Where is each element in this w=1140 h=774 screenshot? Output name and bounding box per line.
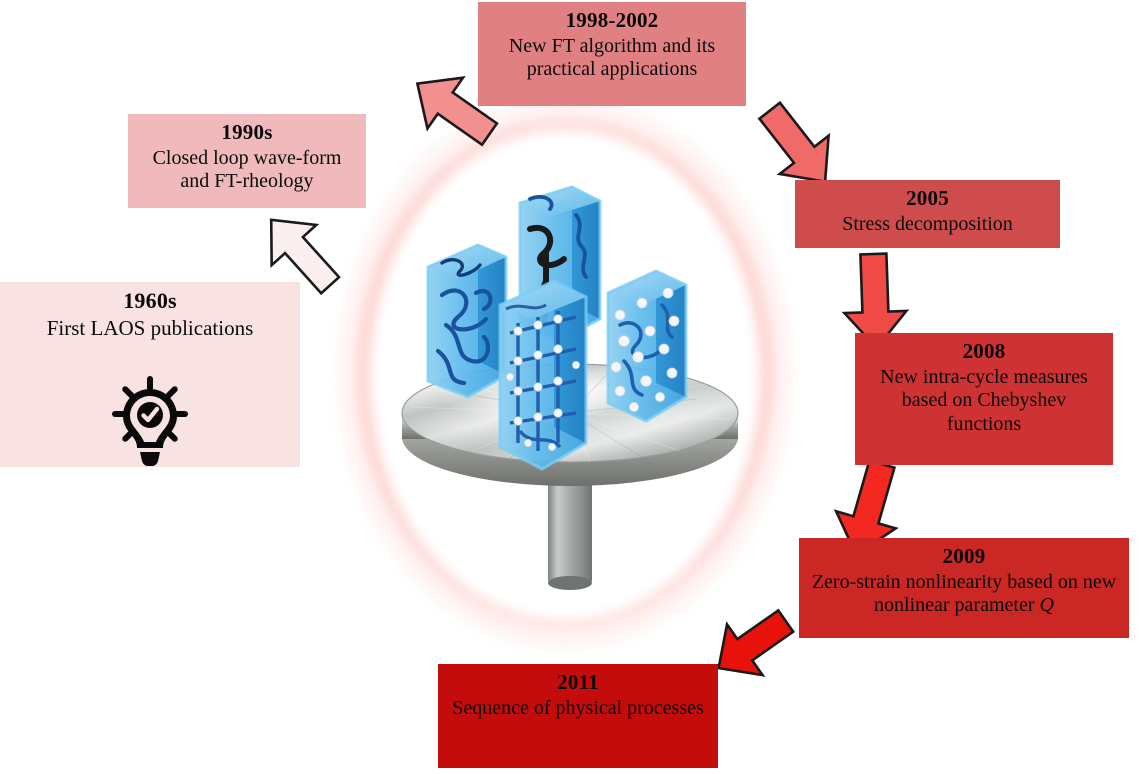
rheometer-illustration (380, 185, 760, 595)
milestone-description: Sequence of physical processes (448, 697, 708, 721)
milestone-year: 2008 (865, 339, 1103, 364)
figure-canvas: 1960s First LAOS publications (0, 0, 1140, 774)
milestone-box-2009[interactable]: 2009 Zero-strain nonlinearity based on n… (799, 538, 1129, 638)
lightbulb-check-icon (102, 374, 198, 470)
milestone-year: 1960s (10, 288, 290, 314)
milestone-year: 2005 (805, 186, 1050, 211)
milestone-description: Closed loop wave-form and FT-rheology (138, 147, 356, 194)
milestone-box-1960s[interactable]: 1960s First LAOS publications (0, 282, 300, 467)
milestone-box-1998-2002[interactable]: 1998-2002 New FT algorithm and its pract… (478, 2, 746, 106)
milestone-description-text: Zero-strain nonlinearity based on new no… (812, 571, 1116, 617)
milestone-box-2005[interactable]: 2005 Stress decomposition (795, 180, 1060, 248)
milestone-description: Zero-strain nonlinearity based on new no… (809, 571, 1119, 618)
milestone-box-2011[interactable]: 2011 Sequence of physical processes (438, 664, 718, 768)
milestone-year: 1998-2002 (488, 8, 736, 33)
milestone-year: 2011 (448, 670, 708, 695)
sample-block-linear-chains (428, 245, 506, 397)
sample-block-particle-suspension (608, 271, 686, 421)
milestone-description: First LAOS publications (10, 316, 290, 341)
milestone-year: 1990s (138, 120, 356, 145)
milestone-year: 2009 (809, 544, 1119, 569)
nonlinear-parameter-symbol: Q (1040, 594, 1054, 616)
milestone-description: Stress decomposition (805, 213, 1050, 237)
milestone-box-2008[interactable]: 2008 New intra-cycle measures based on C… (855, 333, 1113, 465)
sample-block-crosslinked-network (500, 281, 586, 469)
milestone-box-1990s[interactable]: 1990s Closed loop wave-form and FT-rheol… (128, 114, 366, 208)
milestone-description: New FT algorithm and its practical appli… (488, 35, 736, 82)
lightbulb-check-icon-wrapper (0, 374, 300, 470)
milestone-description: New intra-cycle measures based on Chebys… (865, 366, 1103, 437)
